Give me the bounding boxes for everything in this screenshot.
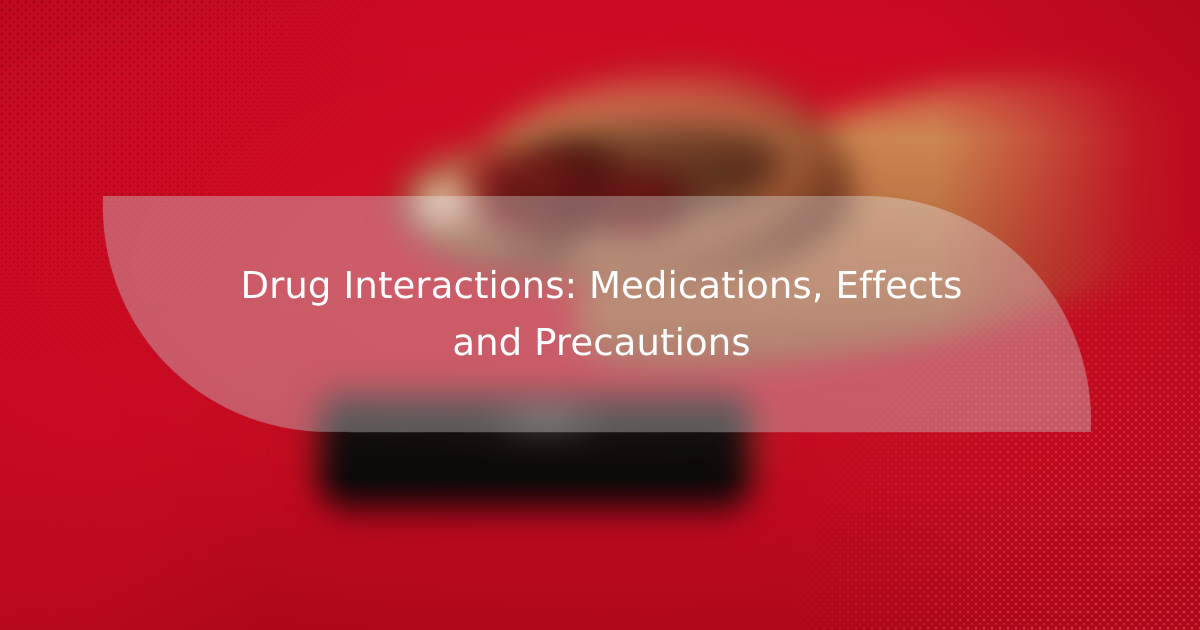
graphic-canvas: Drug Interactions: Medications, Effects … bbox=[0, 0, 1200, 630]
title-banner-content: Drug Interactions: Medications, Effects … bbox=[103, 196, 1100, 432]
page-title: Drug Interactions: Medications, Effects … bbox=[222, 257, 982, 372]
